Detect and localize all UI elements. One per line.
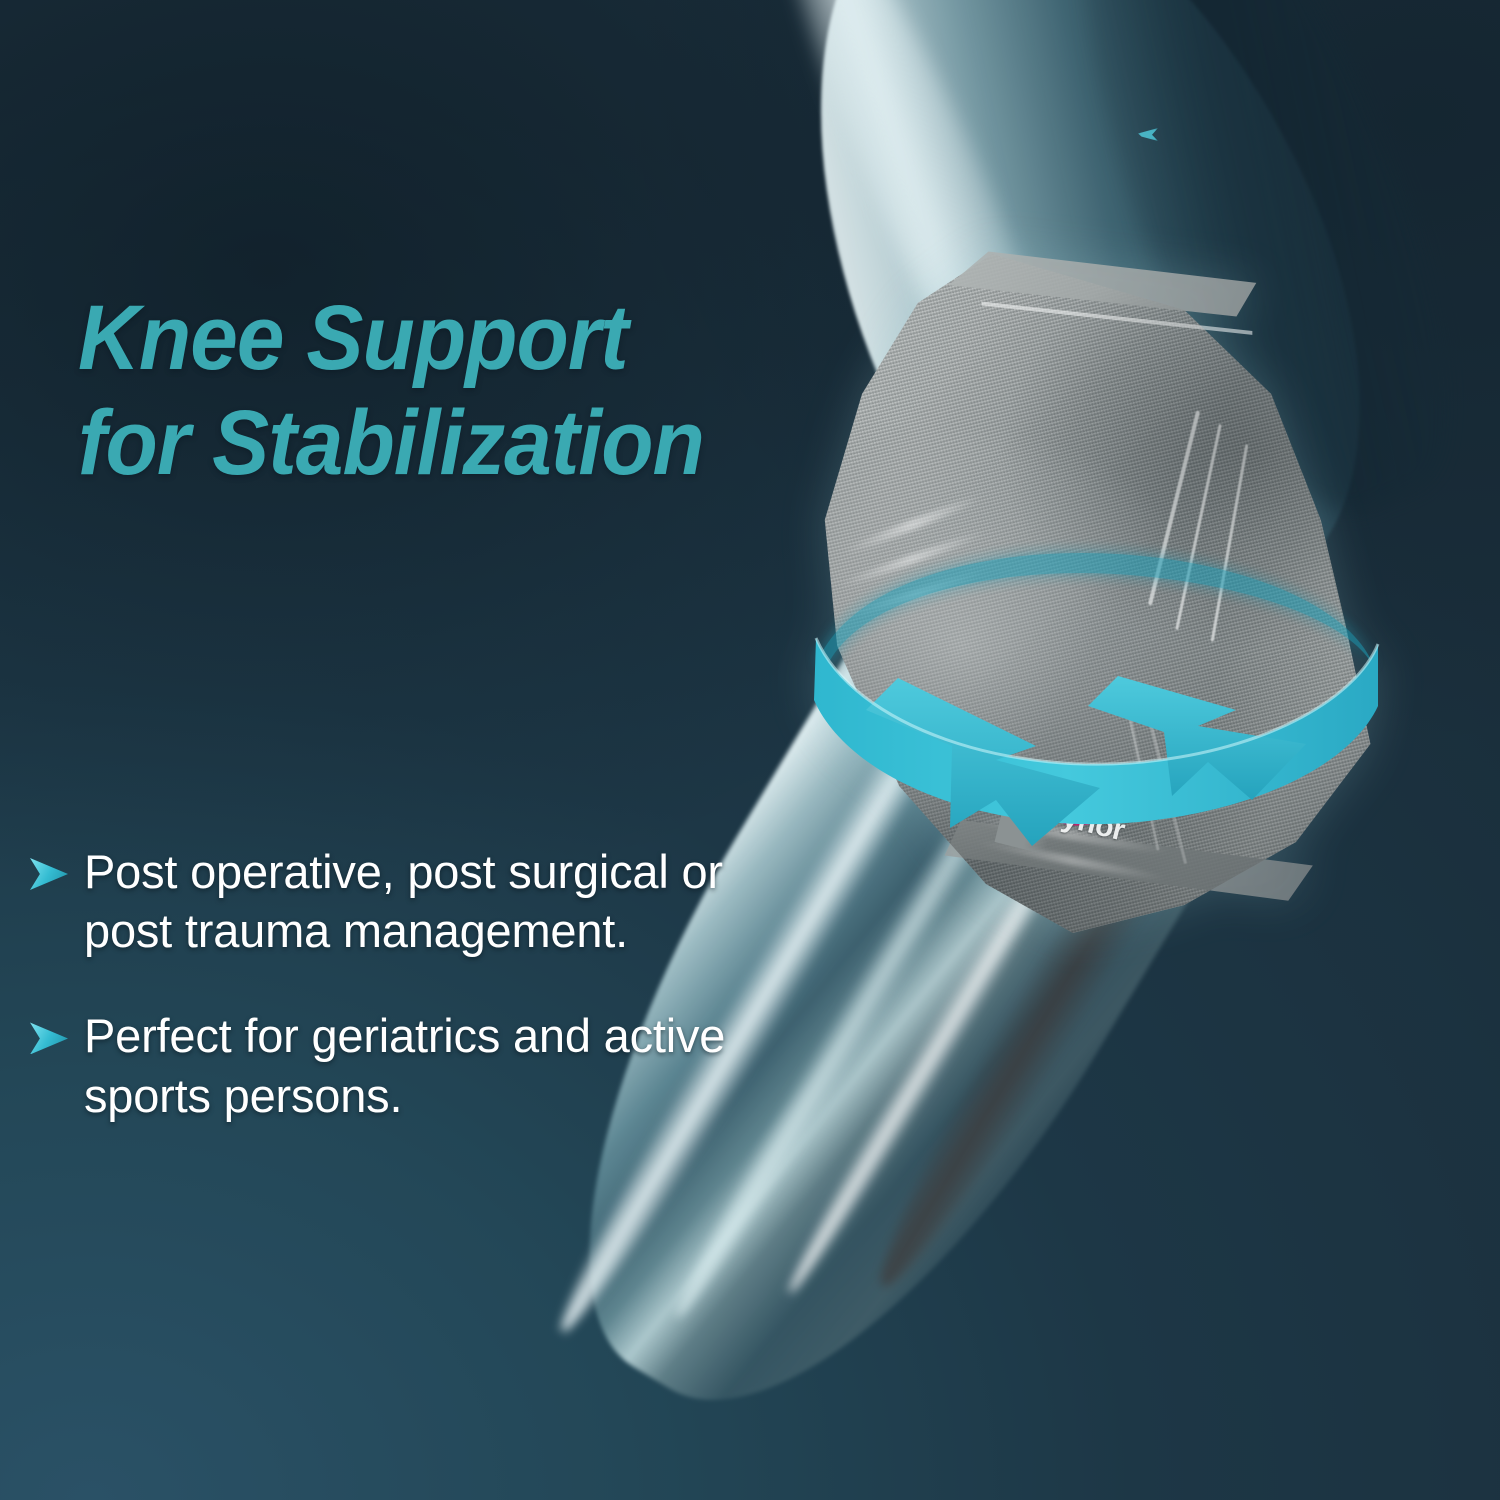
list-item-label: Perfect for geriatrics and active sports… xyxy=(84,1006,725,1124)
knee-sleeve: ynor xyxy=(800,240,1420,940)
arrow-bullet-icon xyxy=(26,1016,70,1062)
list-item: Post operative, post surgical or post tr… xyxy=(26,842,836,960)
rotation-ribbon-icon xyxy=(800,240,1420,940)
product-marketing-poster: ynor xyxy=(0,0,1500,1500)
feature-list: Post operative, post surgical or post tr… xyxy=(26,842,836,1171)
list-item: Perfect for geriatrics and active sports… xyxy=(26,1006,836,1124)
list-item-label: Post operative, post surgical or post tr… xyxy=(84,842,723,960)
arrow-bullet-icon xyxy=(26,852,70,898)
product-photo: ynor xyxy=(700,0,1500,1390)
page-title: Knee Support for Stabilization xyxy=(78,286,803,496)
